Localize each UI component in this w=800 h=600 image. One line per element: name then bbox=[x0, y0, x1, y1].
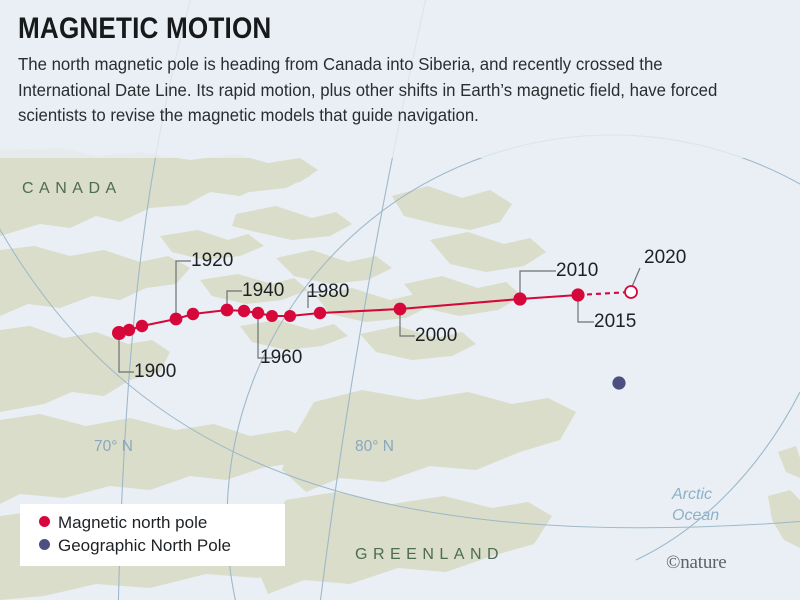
pole-point-2000 bbox=[394, 303, 407, 316]
map-label-canada: CANADA bbox=[22, 180, 122, 198]
year-label-1960: 1960 bbox=[260, 347, 302, 369]
arctic-ocean-line-1: Arctic bbox=[672, 484, 719, 505]
pole-point-1980 bbox=[284, 310, 296, 322]
arctic-ocean-line-2: Ocean bbox=[672, 505, 719, 526]
year-label-1920: 1920 bbox=[191, 250, 233, 272]
pole-point-2020-projected bbox=[625, 286, 637, 298]
legend-swatch-magnetic-icon bbox=[39, 516, 50, 527]
legend: Magnetic north pole Geographic North Pol… bbox=[20, 504, 285, 566]
legend-label-magnetic: Magnetic north pole bbox=[58, 513, 207, 532]
pole-point-1920 bbox=[170, 313, 183, 326]
pole-point-1905 bbox=[123, 324, 135, 336]
pole-point-1910 bbox=[136, 320, 148, 332]
infographic-canvas: MAGNETIC MOTION The north magnetic pole … bbox=[0, 0, 800, 600]
legend-item-geographic-north-pole: Geographic North Pole bbox=[39, 535, 231, 557]
pole-point-2015 bbox=[571, 288, 584, 301]
pole-point-1970 bbox=[266, 310, 278, 322]
pole-point-1990 bbox=[314, 307, 326, 319]
year-label-2000: 2000 bbox=[415, 325, 457, 347]
latitude-label-80: 80° N bbox=[355, 438, 394, 456]
nature-wordmark: ©nature bbox=[666, 552, 727, 574]
year-label-2020: 2020 bbox=[644, 247, 686, 269]
map-label-greenland: GREENLAND bbox=[355, 546, 504, 564]
legend-label-geographic: Geographic North Pole bbox=[58, 536, 231, 555]
year-label-1940: 1940 bbox=[242, 280, 284, 302]
map-label-arctic-ocean: Arctic Ocean bbox=[672, 484, 719, 526]
pole-point-1930 bbox=[187, 308, 199, 320]
pole-point-1960 bbox=[252, 307, 264, 319]
legend-item-magnetic-north-pole: Magnetic north pole bbox=[39, 512, 207, 534]
year-label-1980: 1980 bbox=[307, 281, 349, 303]
pole-point-1950 bbox=[238, 305, 250, 317]
year-label-2015: 2015 bbox=[594, 311, 636, 333]
year-label-1900: 1900 bbox=[134, 361, 176, 383]
legend-swatch-geographic-icon bbox=[39, 539, 50, 550]
geographic-north-pole-point bbox=[612, 376, 625, 389]
year-label-2010: 2010 bbox=[556, 260, 598, 282]
pole-point-1940 bbox=[221, 304, 234, 317]
latitude-label-70: 70° N bbox=[94, 438, 133, 456]
pole-point-2010 bbox=[513, 292, 526, 305]
